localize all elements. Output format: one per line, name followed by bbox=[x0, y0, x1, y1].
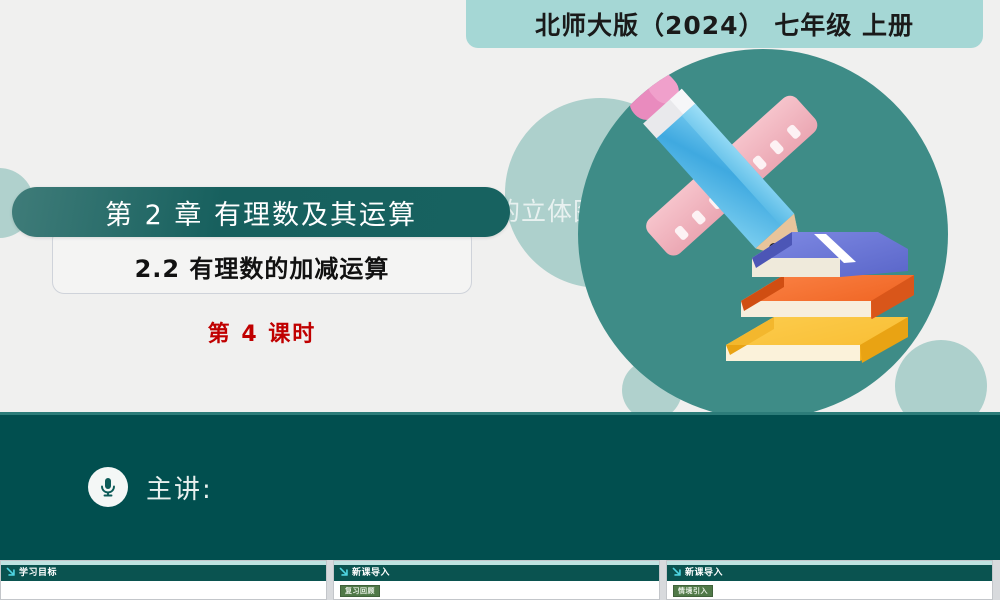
thumbnail-slide-2[interactable]: 新课导入 复习回顾 bbox=[333, 560, 660, 600]
thumbnail-slide-3[interactable]: 新课导入 情境引入 bbox=[666, 560, 993, 600]
section-title-box: 2.2 有理数的加减运算 bbox=[52, 228, 472, 294]
thumbnail-body-3: 情境引入 bbox=[667, 581, 992, 599]
thumbnail-header-text-1: 学习目标 bbox=[19, 569, 57, 578]
arrow-down-right-icon bbox=[671, 566, 684, 579]
thumbnail-slide-1[interactable]: 学习目标 bbox=[0, 560, 327, 600]
arrow-down-right-icon bbox=[338, 566, 351, 579]
thumbnail-header-1: 学习目标 bbox=[1, 565, 326, 581]
thumbnail-header-2: 新课导入 bbox=[334, 565, 659, 581]
thumbnail-header-text-3: 新课导入 bbox=[685, 569, 723, 578]
textbook-edition-text: 北师大版（2024） 七年级 上册 bbox=[535, 6, 914, 42]
slide-lower-stage: 主讲: bbox=[0, 412, 1000, 560]
decorative-circle-bottom-right bbox=[895, 340, 987, 412]
book-yellow bbox=[726, 317, 908, 363]
chapter-title-text: 第 2 章 有理数及其运算 bbox=[105, 193, 417, 232]
stationery-illustration-svg bbox=[578, 49, 948, 412]
slide-upper-stage: 的立体图 bbox=[0, 0, 1000, 412]
presenter-label: 主讲: bbox=[146, 469, 213, 506]
book-orange bbox=[741, 275, 914, 319]
textbook-edition-banner: 北师大版（2024） 七年级 上册 bbox=[466, 0, 983, 48]
microphone-icon bbox=[88, 467, 128, 507]
slide-thumbnail-strip[interactable]: 学习目标 新课导入 复习回顾 新课导入 bbox=[0, 560, 1000, 600]
arrow-down-right-icon bbox=[5, 566, 18, 579]
chapter-title-pill: 第 2 章 有理数及其运算 bbox=[12, 187, 510, 237]
thumbnail-header-3: 新课导入 bbox=[667, 565, 992, 581]
thumbnail-header-text-2: 新课导入 bbox=[352, 569, 390, 578]
thumbnail-badge-2: 复习回顾 bbox=[340, 585, 380, 597]
hero-illustration bbox=[578, 49, 948, 412]
thumbnail-body-2: 复习回顾 bbox=[334, 581, 659, 599]
section-title-text: 2.2 有理数的加减运算 bbox=[135, 249, 390, 284]
thumbnail-badge-3: 情境引入 bbox=[673, 585, 713, 597]
slide-canvas: 的立体图 bbox=[0, 0, 1000, 600]
lesson-number-text: 第 4 课时 bbox=[52, 316, 472, 348]
presenter-row: 主讲: bbox=[88, 467, 213, 507]
thumbnail-body-1 bbox=[1, 581, 326, 599]
